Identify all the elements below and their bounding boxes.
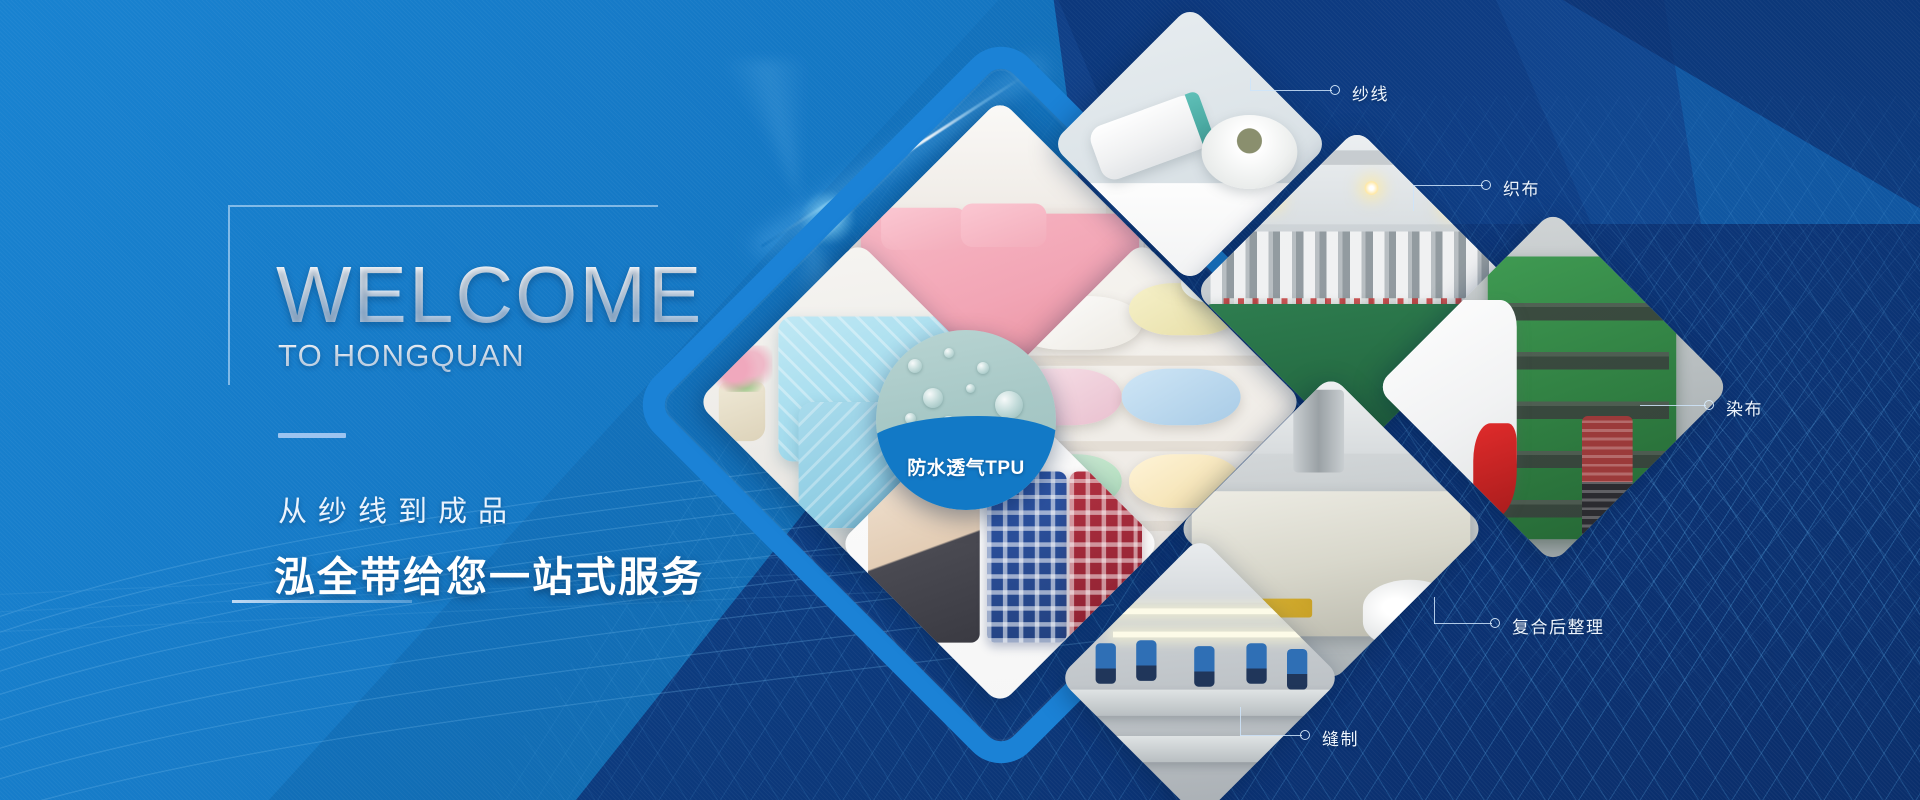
callout-elbow-lamination <box>1434 597 1435 624</box>
callout-dot-lamination <box>1490 618 1500 628</box>
callout-line-dyeing <box>1640 405 1706 406</box>
callout-label-weaving: 织布 <box>1503 175 1540 200</box>
callout-dot-weaving <box>1481 180 1491 190</box>
callout-label-yarn: 纱线 <box>1352 80 1389 105</box>
bottom-divider <box>232 600 412 603</box>
callout-dot-sewing <box>1300 730 1310 740</box>
callout-label-lamination: 复合后整理 <box>1512 613 1605 638</box>
callout-elbow-sewing <box>1240 707 1241 736</box>
callout-line-yarn <box>1250 90 1332 91</box>
callout-label-sewing: 缝制 <box>1322 725 1359 750</box>
callout-label-dyeing: 染布 <box>1726 395 1763 420</box>
callout-line-weaving <box>1413 185 1483 186</box>
callout-elbow-weaving <box>1413 185 1414 211</box>
callout-dot-dyeing <box>1704 400 1714 410</box>
callout-line-lamination <box>1434 623 1492 624</box>
callout-line-sewing <box>1240 735 1302 736</box>
tagline-chinese: 从纱线到成品 <box>278 488 518 530</box>
callout-dot-yarn <box>1330 85 1340 95</box>
headline-chinese: 泓全带给您一站式服务 <box>274 543 704 603</box>
hero-banner: WELCOME TO HONGQUAN 从纱线到成品 泓全带给您一站式服务 <box>0 0 1920 800</box>
status-badge[interactable]: 防水透气TPU <box>876 330 1056 510</box>
accent-divider <box>278 433 346 438</box>
badge-label: 防水透气TPU <box>876 453 1056 480</box>
